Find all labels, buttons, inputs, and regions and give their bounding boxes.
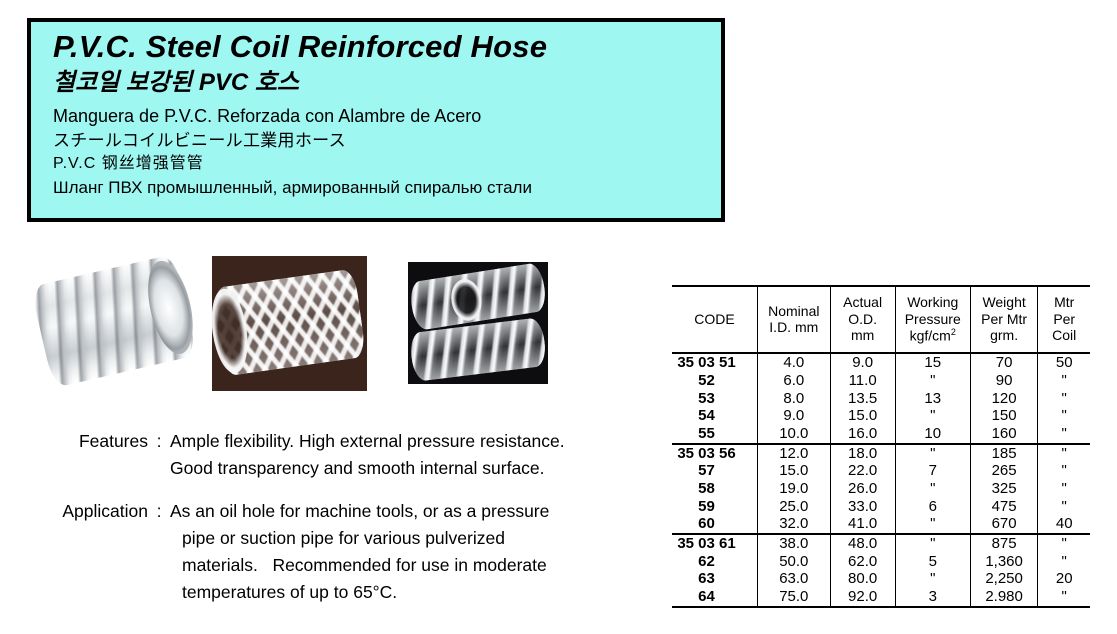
cell-actual-od: 33.0 [830, 498, 895, 516]
cell-working-pressure: 5 [895, 553, 970, 571]
cell-working-pressure: 3 [895, 588, 970, 607]
cell-working-pressure: " [895, 515, 970, 534]
table-row[interactable]: 5819.026.0"325" [672, 480, 1090, 498]
cell-actual-od: 80.0 [830, 570, 895, 588]
cell-working-pressure: 15 [895, 353, 970, 372]
header-actual-od-line-3: mm [833, 327, 893, 344]
cell-code: 64 [672, 588, 758, 607]
header-weight: Weight Per Mtr grm. [970, 286, 1038, 353]
header-working-pressure-line-1: Working [898, 294, 968, 311]
application-label: Application [44, 498, 148, 524]
cell-weight: 875 [970, 534, 1038, 553]
table-row[interactable]: 35 03 6138.048.0"875" [672, 534, 1090, 553]
product-photo-coiled-hose [408, 262, 548, 384]
specification-table-container: CODE Nominal I.D. mm Actual O.D. mm Work… [672, 285, 1090, 608]
cell-working-pressure: " [895, 407, 970, 425]
cell-nominal-id: 4.0 [758, 353, 831, 372]
features-line-1: Ample flexibility. High external pressur… [170, 428, 664, 454]
table-row[interactable]: 5510.016.010160" [672, 425, 1090, 444]
cell-working-pressure: 10 [895, 425, 970, 444]
table-row[interactable]: 35 03 5612.018.0"185" [672, 444, 1090, 463]
application-colon: : [148, 498, 170, 524]
application-line-4: temperatures of up to 65°C. [170, 579, 664, 605]
application-text: As an oil hole for machine tools, or as … [170, 498, 664, 606]
cell-weight: 325 [970, 480, 1038, 498]
cell-nominal-id: 25.0 [758, 498, 831, 516]
header-nominal-id-line-2: I.D. mm [760, 319, 828, 336]
application-line-3: materials. Recommended for use in modera… [170, 552, 664, 578]
title-spanish: Manguera de P.V.C. Reforzada con Alambre… [53, 104, 721, 130]
cell-code: 57 [672, 462, 758, 480]
cell-mtr-per-coil: " [1038, 588, 1090, 607]
table-row[interactable]: 5925.033.06475" [672, 498, 1090, 516]
page-title: P.V.C. Steel Coil Reinforced Hose [53, 28, 721, 66]
header-nominal-id-line-1: Nominal [760, 303, 828, 320]
cell-working-pressure: " [895, 570, 970, 588]
cell-code: 52 [672, 372, 758, 390]
table-row[interactable]: 6032.041.0"67040 [672, 515, 1090, 534]
title-korean: 철코일 보강된 PVC 호스 [53, 68, 721, 99]
cell-actual-od: 48.0 [830, 534, 895, 553]
cell-nominal-id: 75.0 [758, 588, 831, 607]
application-line-2: pipe or suction pipe for various pulveri… [170, 525, 664, 551]
header-mtr-per-coil-line-1: Mtr [1040, 294, 1088, 311]
header-working-pressure-line-3: kgf/cm2 [898, 327, 968, 344]
product-photo-braided-hose [212, 256, 367, 391]
features-block: Features : Ample flexibility. High exter… [44, 428, 664, 482]
cell-nominal-id: 63.0 [758, 570, 831, 588]
cell-nominal-id: 32.0 [758, 515, 831, 534]
title-japanese: スチールコイルビニール工業用ホース [53, 129, 721, 153]
cell-code: 35 03 56 [672, 444, 758, 463]
cell-nominal-id: 8.0 [758, 390, 831, 408]
cell-code: 54 [672, 407, 758, 425]
cell-working-pressure: " [895, 444, 970, 463]
cell-working-pressure: " [895, 534, 970, 553]
cell-nominal-id: 19.0 [758, 480, 831, 498]
cell-nominal-id: 15.0 [758, 462, 831, 480]
features-colon: : [148, 428, 170, 454]
cell-code: 63 [672, 570, 758, 588]
cell-weight: 2,250 [970, 570, 1038, 588]
cell-code: 59 [672, 498, 758, 516]
spec-table-head: CODE Nominal I.D. mm Actual O.D. mm Work… [672, 286, 1090, 353]
product-photo-gallery [22, 248, 542, 398]
header-weight-line-1: Weight [973, 294, 1036, 311]
cell-mtr-per-coil: " [1038, 480, 1090, 498]
cell-nominal-id: 12.0 [758, 444, 831, 463]
specification-table: CODE Nominal I.D. mm Actual O.D. mm Work… [672, 285, 1090, 608]
header-mtr-per-coil-line-2: Per [1040, 311, 1088, 328]
cell-weight: 70 [970, 353, 1038, 372]
cell-working-pressure: " [895, 480, 970, 498]
table-row[interactable]: 526.011.0"90" [672, 372, 1090, 390]
cell-nominal-id: 10.0 [758, 425, 831, 444]
cell-actual-od: 9.0 [830, 353, 895, 372]
cell-code: 35 03 51 [672, 353, 758, 372]
cell-mtr-per-coil: " [1038, 372, 1090, 390]
cell-actual-od: 18.0 [830, 444, 895, 463]
cell-code: 62 [672, 553, 758, 571]
title-russian: Шланг ПВХ промышленный, армированный спи… [53, 176, 721, 200]
cell-working-pressure: 13 [895, 390, 970, 408]
cell-weight: 475 [970, 498, 1038, 516]
cell-mtr-per-coil: " [1038, 425, 1090, 444]
header-nominal-id: Nominal I.D. mm [758, 286, 831, 353]
cell-actual-od: 15.0 [830, 407, 895, 425]
cell-code: 58 [672, 480, 758, 498]
cell-working-pressure: 6 [895, 498, 970, 516]
description-section: Features : Ample flexibility. High exter… [44, 428, 664, 622]
cell-weight: 185 [970, 444, 1038, 463]
features-label: Features [44, 428, 148, 454]
cell-nominal-id: 50.0 [758, 553, 831, 571]
cell-working-pressure: 7 [895, 462, 970, 480]
cell-nominal-id: 9.0 [758, 407, 831, 425]
header-weight-line-2: Per Mtr [973, 311, 1036, 328]
table-row[interactable]: 35 03 514.09.0157050 [672, 353, 1090, 372]
product-photo-clear-hose [30, 252, 198, 392]
cell-weight: 2.980 [970, 588, 1038, 607]
cell-mtr-per-coil: 50 [1038, 353, 1090, 372]
application-line-1: As an oil hole for machine tools, or as … [170, 498, 664, 524]
cell-actual-od: 13.5 [830, 390, 895, 408]
table-row[interactable]: 6363.080.0"2,25020 [672, 570, 1090, 588]
table-row[interactable]: 549.015.0"150" [672, 407, 1090, 425]
cell-code: 35 03 61 [672, 534, 758, 553]
cell-mtr-per-coil: " [1038, 462, 1090, 480]
cell-nominal-id: 6.0 [758, 372, 831, 390]
cell-weight: 160 [970, 425, 1038, 444]
header-actual-od: Actual O.D. mm [830, 286, 895, 353]
cell-mtr-per-coil: " [1038, 553, 1090, 571]
cell-working-pressure: " [895, 372, 970, 390]
title-banner: P.V.C. Steel Coil Reinforced Hose 철코일 보강… [27, 18, 725, 222]
cell-code: 53 [672, 390, 758, 408]
spec-header-row: CODE Nominal I.D. mm Actual O.D. mm Work… [672, 286, 1090, 353]
cell-actual-od: 41.0 [830, 515, 895, 534]
cell-weight: 1,360 [970, 553, 1038, 571]
spec-table-body: 35 03 514.09.0157050526.011.0"90"538.013… [672, 353, 1090, 607]
cell-mtr-per-coil: " [1038, 498, 1090, 516]
cell-actual-od: 62.0 [830, 553, 895, 571]
cell-mtr-per-coil: " [1038, 390, 1090, 408]
cell-nominal-id: 38.0 [758, 534, 831, 553]
cell-actual-od: 26.0 [830, 480, 895, 498]
cell-mtr-per-coil: 40 [1038, 515, 1090, 534]
header-working-pressure: Working Pressure kgf/cm2 [895, 286, 970, 353]
table-row[interactable]: 5715.022.07265" [672, 462, 1090, 480]
table-row[interactable]: 6250.062.051,360" [672, 553, 1090, 571]
header-actual-od-line-2: O.D. [833, 311, 893, 328]
cell-weight: 265 [970, 462, 1038, 480]
cell-code: 60 [672, 515, 758, 534]
cell-mtr-per-coil: " [1038, 407, 1090, 425]
cell-mtr-per-coil: " [1038, 444, 1090, 463]
cell-weight: 670 [970, 515, 1038, 534]
cell-actual-od: 22.0 [830, 462, 895, 480]
table-row[interactable]: 538.013.513120" [672, 390, 1090, 408]
header-mtr-per-coil: Mtr Per Coil [1038, 286, 1090, 353]
header-actual-od-line-1: Actual [833, 294, 893, 311]
features-text: Ample flexibility. High external pressur… [170, 428, 664, 482]
header-weight-line-3: grm. [973, 327, 1036, 344]
features-line-2: Good transparency and smooth internal su… [170, 455, 664, 481]
cell-actual-od: 16.0 [830, 425, 895, 444]
cell-weight: 150 [970, 407, 1038, 425]
header-code: CODE [672, 286, 758, 353]
cell-actual-od: 11.0 [830, 372, 895, 390]
table-row[interactable]: 6475.092.032.980" [672, 588, 1090, 607]
cell-mtr-per-coil: 20 [1038, 570, 1090, 588]
cell-weight: 90 [970, 372, 1038, 390]
application-block: Application : As an oil hole for machine… [44, 498, 664, 606]
header-working-pressure-line-2: Pressure [898, 311, 968, 328]
cell-weight: 120 [970, 390, 1038, 408]
cell-mtr-per-coil: " [1038, 534, 1090, 553]
header-mtr-per-coil-line-3: Coil [1040, 327, 1088, 344]
cell-code: 55 [672, 425, 758, 444]
title-chinese: P.V.C 钢丝增强管管 [53, 153, 721, 176]
cell-actual-od: 92.0 [830, 588, 895, 607]
